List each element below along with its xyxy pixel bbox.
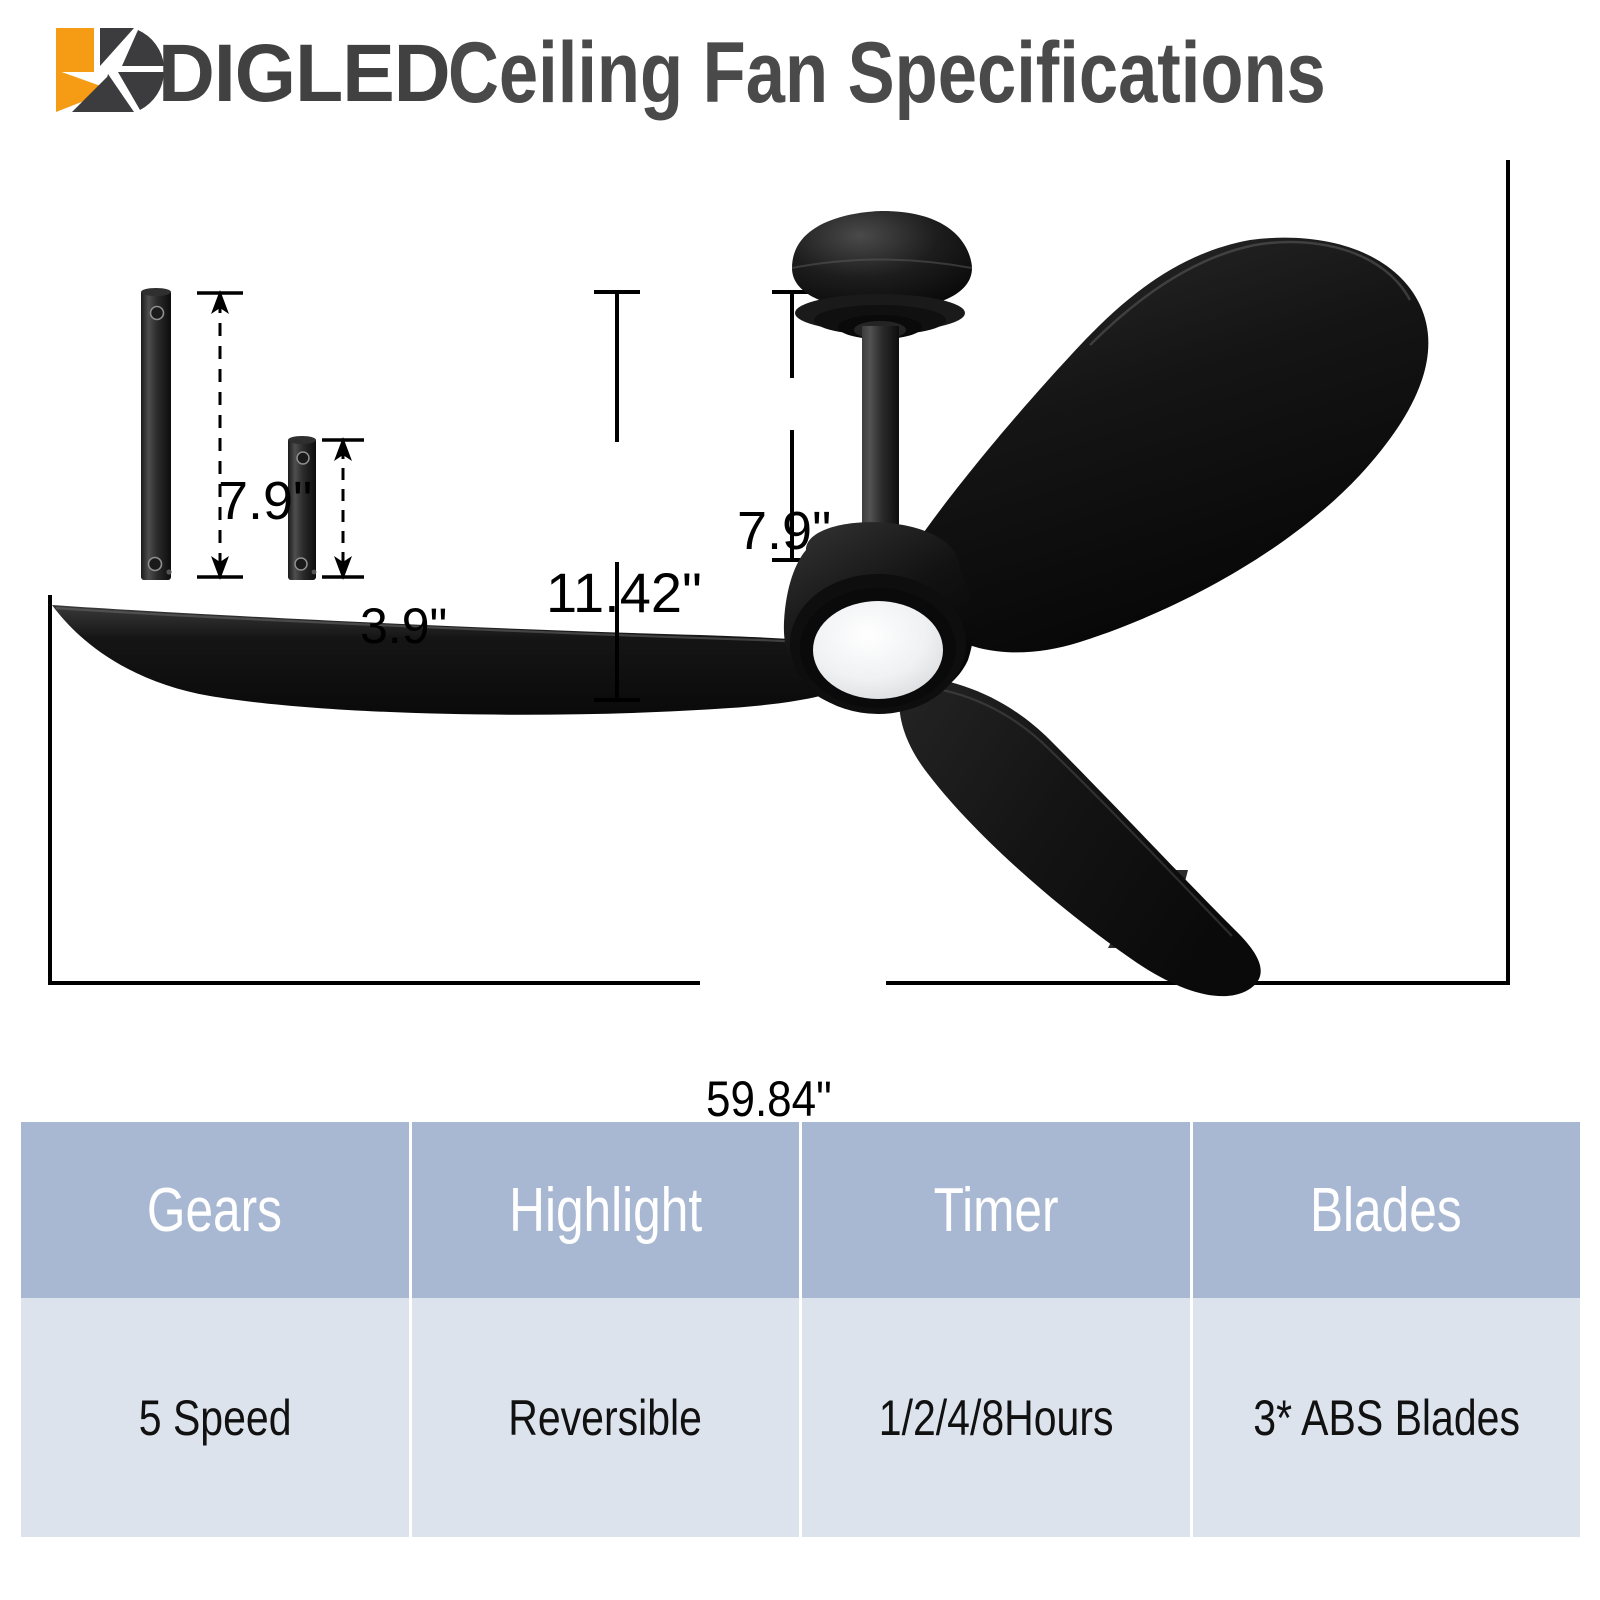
table-header-timer: Timer: [802, 1122, 1193, 1298]
specification-table: Gears Highlight Timer Blades 5 Speed Rev…: [21, 1122, 1580, 1537]
blade-top-right: [905, 238, 1428, 653]
digled-logo-icon: [48, 26, 168, 114]
table-header-highlight: Highlight: [412, 1122, 803, 1298]
downrod-long-sample: [141, 288, 172, 580]
table-header-row: Gears Highlight Timer Blades: [21, 1122, 1580, 1298]
table-header-blades: Blades: [1193, 1122, 1581, 1298]
table-cell-timer: 1/2/4/8Hours: [802, 1298, 1193, 1537]
led-light-disc: [800, 588, 956, 708]
dim-label-total-drop: 11.42": [546, 560, 702, 625]
blade-bottom-right: [899, 675, 1260, 996]
page-title: Ceiling Fan Specifications: [448, 24, 1326, 123]
blade-left: [52, 605, 900, 715]
table-header-gears: Gears: [21, 1122, 412, 1298]
downrod: [862, 326, 899, 536]
table-row: 5 Speed Reversible 1/2/4/8Hours 3* ABS B…: [21, 1298, 1580, 1537]
table-cell-highlight: Reversible: [412, 1298, 803, 1537]
brand-wordmark: DIGLED: [158, 27, 450, 121]
ceiling-canopy: [792, 211, 972, 339]
dimension-downrod-long: [197, 290, 243, 580]
ceiling-fan-illustration: [0, 130, 1600, 1070]
dim-label-rod-drop: 7.9": [737, 500, 831, 562]
fan-diagram: 7.9" 3.9" 11.42" 7.9" 59.84": [0, 130, 1600, 1070]
table-cell-gears: 5 Speed: [21, 1298, 412, 1537]
dimension-downrod-short: [322, 437, 364, 580]
dim-label-downrod-long: 7.9": [218, 470, 312, 532]
dim-label-blade-span: 59.84": [706, 1070, 832, 1128]
table-cell-blades: 3* ABS Blades: [1193, 1298, 1581, 1537]
dim-label-downrod-short: 3.9": [360, 597, 447, 655]
page-header: DIGLED Ceiling Fan Specifications: [0, 0, 1600, 140]
